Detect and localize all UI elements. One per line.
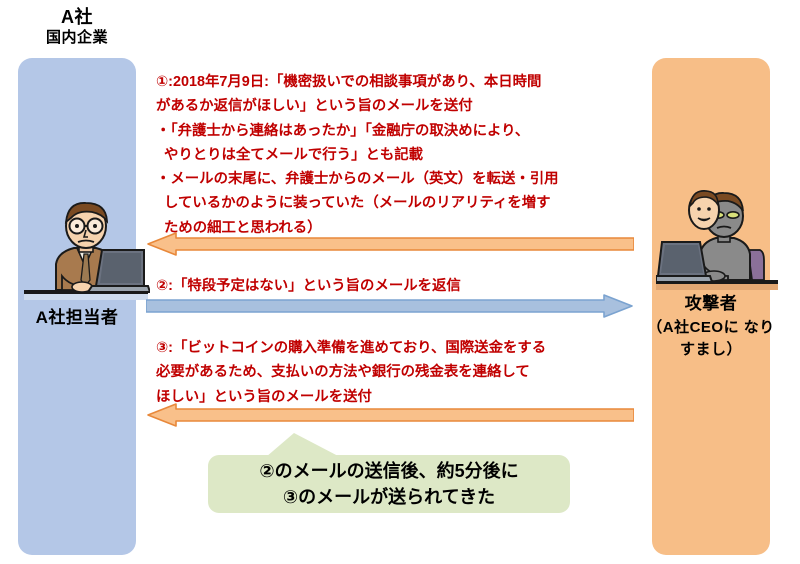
masked-attacker-at-laptop-icon <box>656 188 778 296</box>
arrow-message-2 <box>146 294 634 318</box>
arrow-message-1 <box>146 232 634 256</box>
company-title-block: A社 国内企業 <box>18 6 136 48</box>
arrow-message-3 <box>146 403 634 427</box>
attacker-label-main: 攻撃者 <box>685 294 738 313</box>
message-3-text: ③:「ビットコインの購入準備を進めており、国際送金をする 必要があるため、支払い… <box>156 336 546 409</box>
company-title-main: A社 <box>18 6 136 28</box>
company-title-sub: 国内企業 <box>18 28 136 48</box>
message-1-text: ①:2018年7月9日:「機密扱いでの相談事項があり、本日時間 があるか返信がほ… <box>156 70 559 240</box>
callout-line-1: ②のメールの送信後、約5分後に <box>259 458 518 484</box>
person-at-laptop-icon <box>22 198 150 306</box>
attacker-label: 攻撃者 （A社CEOに なりすまし） <box>645 292 777 361</box>
attacker-label-sub: （A社CEOに なりすまし） <box>645 317 777 361</box>
diagram-canvas: A社 国内企業 A社担当者 <box>0 0 800 564</box>
company-person-label: A社担当者 <box>4 303 150 328</box>
callout-pointer <box>266 433 340 457</box>
callout-text: ②のメールの送信後、約5分後に ③のメールが送られてきた <box>208 455 570 513</box>
callout-line-2: ③のメールが送られてきた <box>283 484 495 510</box>
